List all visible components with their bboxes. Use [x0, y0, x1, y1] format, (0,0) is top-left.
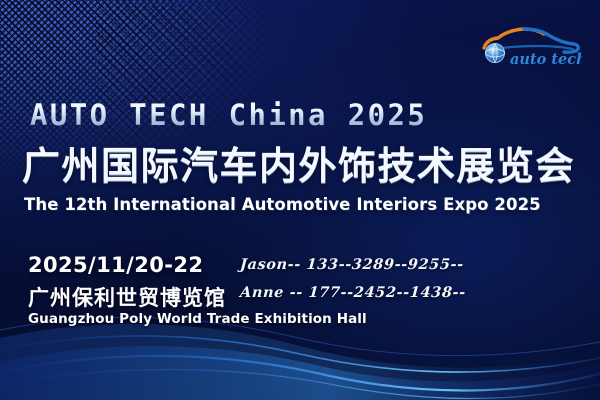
poster-canvas: auto tech AUTO TECH China 2025 广州国际汽车内外饰… [0, 0, 600, 400]
headline-chinese: 广州国际汽车内外饰技术展览会 [22, 145, 575, 188]
event-date: 2025/11/20-22 [28, 255, 203, 276]
contact-anne: Anne -- 177--2452--1438-- [239, 286, 466, 301]
subtitle-english: The 12th International Automotive Interi… [24, 197, 541, 214]
venue-chinese: 广州保利世贸博览馆 [28, 288, 226, 309]
contact-jason: Jason-- 133--3289--9255-- [239, 258, 464, 273]
poster-text-layer: AUTO TECH China 2025 广州国际汽车内外饰技术展览会 The … [0, 0, 600, 400]
headline-english: AUTO TECH China 2025 [30, 101, 427, 130]
venue-english: Guangzhou Poly World Trade Exhibition Ha… [28, 313, 367, 327]
